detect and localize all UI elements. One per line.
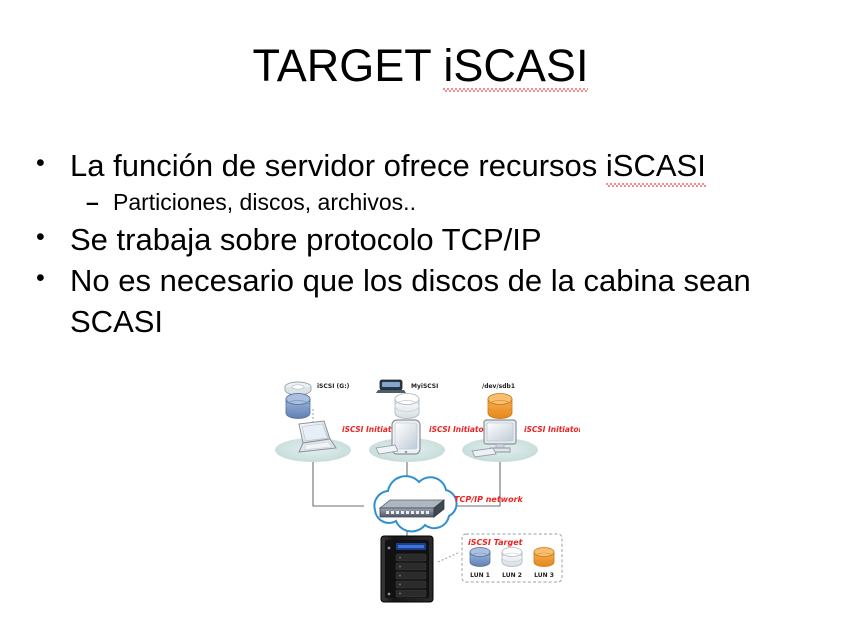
list-item: • Se trabaja sobre protocolo TCP/IP [36,220,806,260]
title-misspelled-word: iSCASI [443,42,588,91]
target-label: iSCSI Target [468,538,524,547]
list-item-sub: – Particiones, discos, archivos.. [86,187,806,218]
title-text: TARGET [253,40,444,91]
storage-label-1: iSCSI (G:) [317,383,350,390]
iscsi-network-diagram: iSCSI (G:) iSCSI Init [272,366,580,606]
disk-cylinder-orange [488,394,512,419]
lun-1: LUN 1 [470,548,490,580]
bullet-marker-icon: • [36,220,70,255]
bullet-marker-icon: • [36,146,70,181]
dash-marker-icon: – [86,187,113,218]
lun-3-label: LUN 3 [534,572,554,579]
network-switch-icon [380,500,444,517]
list-item-sub-text: Particiones, discos, archivos.. [113,187,806,218]
list-item: • La función de servidor ofrece recursos… [36,146,806,186]
laptop-icon [299,421,336,452]
list-item-text: Se trabaja sobre protocolo TCP/IP [70,220,806,260]
drive-icon [376,380,406,393]
list-item-misspelled-word: iSCASI [606,146,706,186]
disk-cylinder-white [395,394,419,419]
list-item-text: La función de servidor ofrece recursos i… [70,146,806,186]
storage-label-3: /dev/sdb1 [482,383,515,390]
lun-1-label: LUN 1 [470,572,490,579]
bullet-list: • La función de servidor ofrece recursos… [36,146,806,343]
lun-2: LUN 2 [502,548,522,580]
disk-cylinder-blue [286,394,310,419]
hard-disk-icon [285,382,311,395]
iscsi-target-group: iSCSI Target LUN 1 LUN 2 [462,534,562,582]
nas-server-icon [381,536,433,602]
storage-label-2: MyiSCSI [411,383,438,390]
list-item-text-main: La función de servidor ofrece recursos [70,148,606,183]
list-item: • No es necesario que los discos de la c… [36,261,806,342]
lun-2-label: LUN 2 [502,572,522,579]
column-dev-sdb1: /dev/sdb1 iSCSI Initiator [462,383,580,462]
lun-3: LUN 3 [534,548,554,580]
initiator-label-2: iSCSI Initiator [429,425,489,434]
initiator-label-3: iSCSI Initiator [524,425,580,434]
page-title: TARGET iSCASI [0,42,841,91]
presentation-slide: TARGET iSCASI • La función de servidor o… [0,0,841,627]
bullet-marker-icon: • [36,261,70,296]
network-label: TCP/IP network [454,495,524,504]
tcpip-network-cloud: TCP/IP network [374,476,523,531]
list-item-text: No es necesario que los discos de la cab… [70,261,806,342]
